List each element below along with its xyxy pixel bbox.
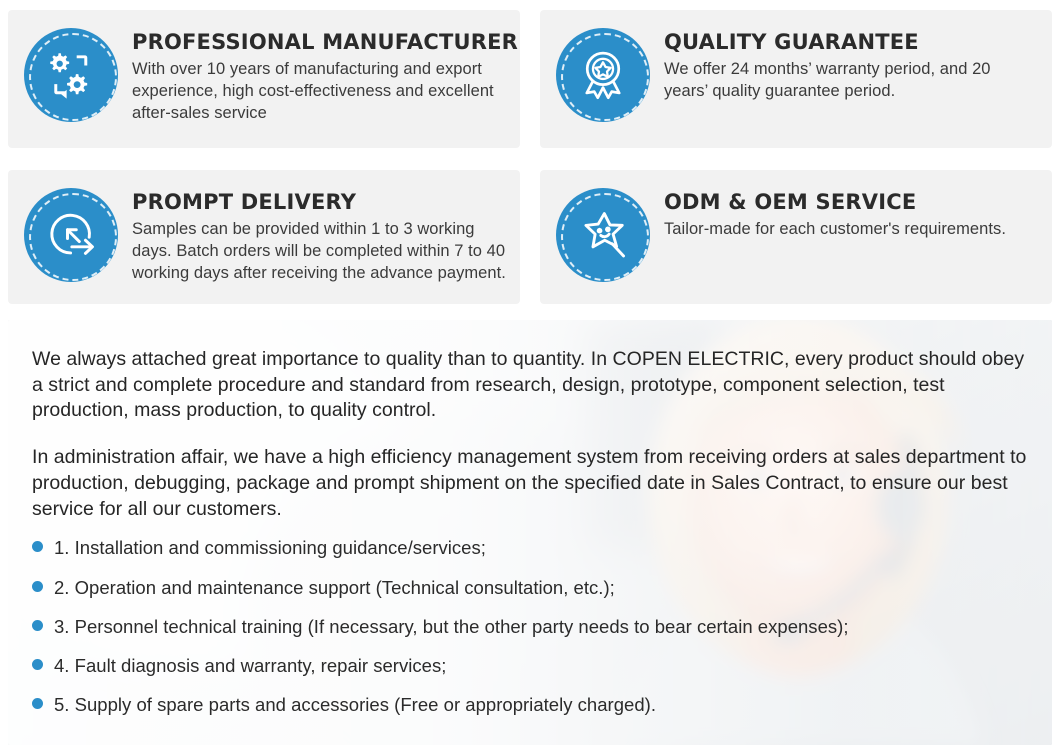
card-text: PROFESSIONAL MANUFACTURER With over 10 y… bbox=[132, 26, 506, 125]
administration-statement-paragraph: In administration affair, we have a high… bbox=[32, 445, 1030, 522]
list-item-label: 4. Fault diagnosis and warranty, repair … bbox=[54, 654, 446, 677]
gears-cycle-icon bbox=[24, 28, 118, 122]
list-item-label: 1. Installation and commissioning guidan… bbox=[54, 536, 486, 559]
card-description: We offer 24 months’ warranty period, and… bbox=[664, 59, 1038, 103]
list-item-label: 5. Supply of spare parts and accessories… bbox=[54, 693, 656, 716]
feature-card-professional-manufacturer: PROFESSIONAL MANUFACTURER With over 10 y… bbox=[8, 10, 520, 148]
feature-card-prompt-delivery: PROMPT DELIVERY Samples can be provided … bbox=[8, 170, 520, 304]
list-item: 4. Fault diagnosis and warranty, repair … bbox=[32, 654, 1030, 677]
list-item: 5. Supply of spare parts and accessories… bbox=[32, 693, 1030, 716]
card-text: QUALITY GUARANTEE We offer 24 months’ wa… bbox=[664, 26, 1038, 103]
card-title: PROFESSIONAL MANUFACTURER bbox=[132, 30, 506, 54]
quality-statement-paragraph: We always attached great importance to q… bbox=[32, 347, 1030, 424]
fast-delivery-arrow-icon bbox=[24, 188, 118, 282]
feature-card-odm-oem-service: ODM & OEM SERVICE Tailor-made for each c… bbox=[540, 170, 1052, 304]
magic-wand-star-icon bbox=[556, 188, 650, 282]
card-title: PROMPT DELIVERY bbox=[132, 190, 506, 214]
card-description: With over 10 years of manufacturing and … bbox=[132, 59, 506, 125]
card-description: Tailor-made for each customer's requirem… bbox=[664, 219, 1038, 241]
award-medal-star-icon bbox=[556, 28, 650, 122]
bullet-dot-icon bbox=[32, 541, 43, 552]
company-advantages-page: PROFESSIONAL MANUFACTURER With over 10 y… bbox=[0, 0, 1060, 753]
bullet-dot-icon bbox=[32, 698, 43, 709]
service-statement-panel: We always attached great importance to q… bbox=[8, 320, 1052, 745]
bullet-dot-icon bbox=[32, 659, 43, 670]
after-sales-service-list: 1. Installation and commissioning guidan… bbox=[32, 536, 1030, 716]
card-title: QUALITY GUARANTEE bbox=[664, 30, 1038, 54]
bullet-dot-icon bbox=[32, 581, 43, 592]
feature-card-quality-guarantee: QUALITY GUARANTEE We offer 24 months’ wa… bbox=[540, 10, 1052, 148]
card-text: PROMPT DELIVERY Samples can be provided … bbox=[132, 186, 506, 285]
bullet-dot-icon bbox=[32, 620, 43, 631]
list-item-label: 2. Operation and maintenance support (Te… bbox=[54, 576, 615, 599]
list-item: 3. Personnel technical training (If nece… bbox=[32, 615, 1030, 638]
list-item-label: 3. Personnel technical training (If nece… bbox=[54, 615, 849, 638]
list-item: 1. Installation and commissioning guidan… bbox=[32, 536, 1030, 559]
card-title: ODM & OEM SERVICE bbox=[664, 190, 1038, 214]
panel-content: We always attached great importance to q… bbox=[8, 320, 1052, 742]
list-item: 2. Operation and maintenance support (Te… bbox=[32, 576, 1030, 599]
card-text: ODM & OEM SERVICE Tailor-made for each c… bbox=[664, 186, 1038, 241]
feature-cards-grid: PROFESSIONAL MANUFACTURER With over 10 y… bbox=[8, 10, 1052, 304]
card-description: Samples can be provided within 1 to 3 wo… bbox=[132, 219, 506, 285]
